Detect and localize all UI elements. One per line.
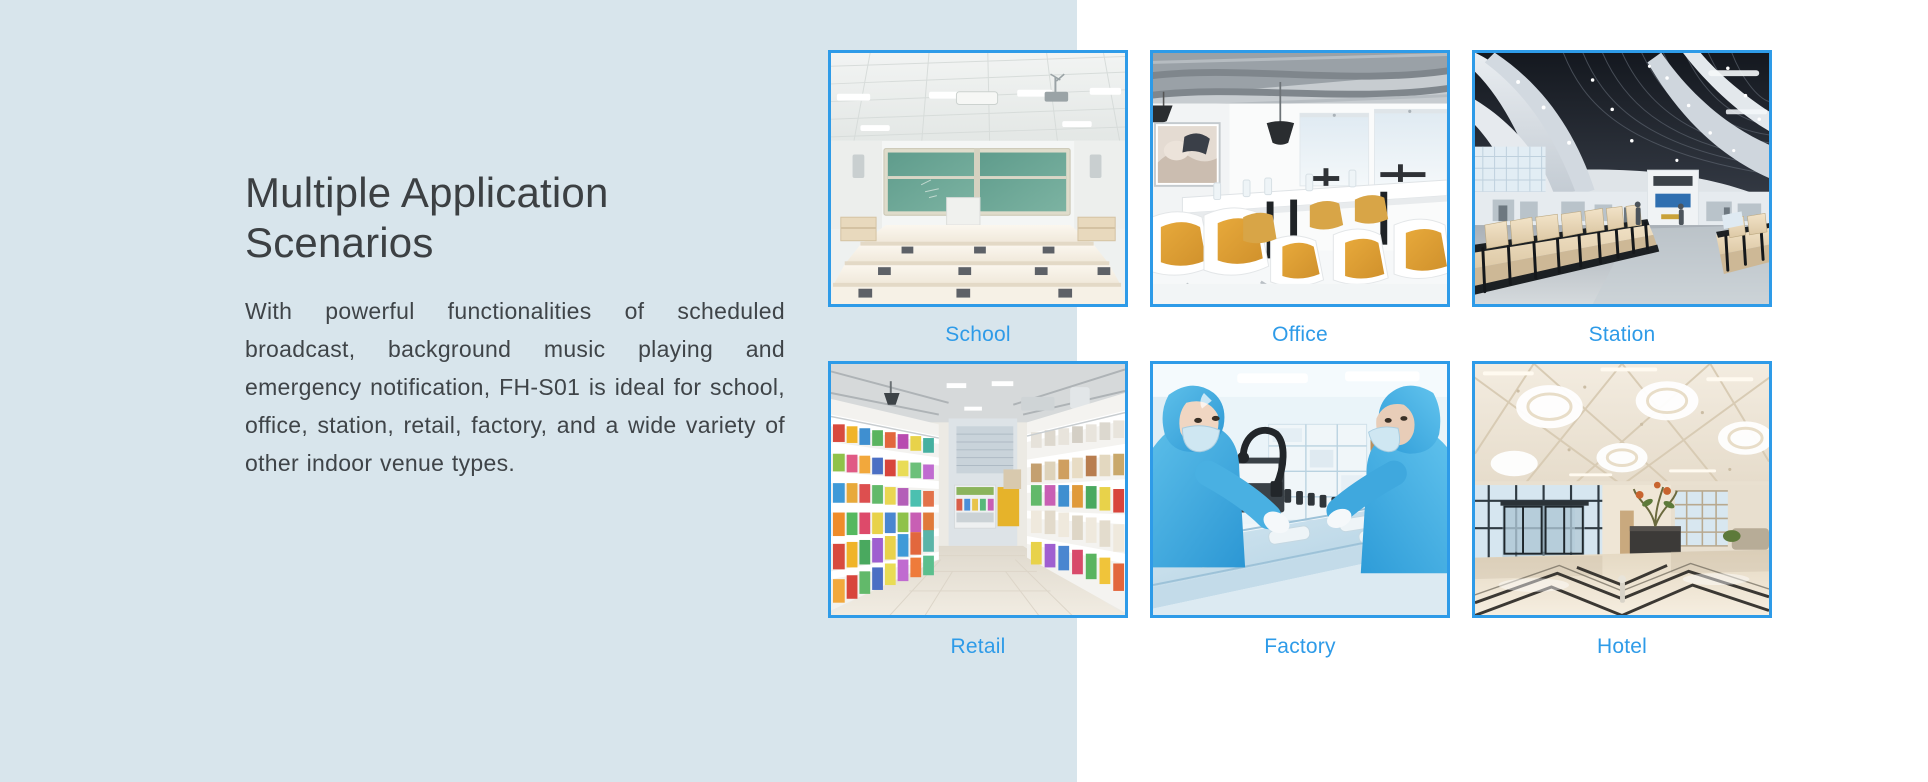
scenario-caption-station: Station <box>1472 323 1772 347</box>
application-scenarios-section: Multiple Application Scenarios With powe… <box>0 0 1928 782</box>
scenario-card-factory[interactable]: Factory <box>1150 361 1450 659</box>
scenario-card-station[interactable]: Station <box>1472 50 1772 347</box>
scenario-grid: School <box>828 50 1838 673</box>
scenario-card-hotel[interactable]: Hotel <box>1472 361 1772 659</box>
scenario-row-1: School <box>828 50 1838 347</box>
airport-terminal-photo <box>1472 50 1772 307</box>
supermarket-aisle-photo <box>828 361 1128 618</box>
scenario-caption-retail: Retail <box>828 635 1128 659</box>
scenario-card-retail[interactable]: Retail <box>828 361 1128 659</box>
scenario-caption-school: School <box>828 323 1128 347</box>
scenario-card-school[interactable]: School <box>828 50 1128 347</box>
scenario-card-office[interactable]: Office <box>1150 50 1450 347</box>
cleanroom-assembly-photo <box>1150 361 1450 618</box>
classroom-photo <box>828 50 1128 307</box>
section-heading: Multiple Application Scenarios <box>245 168 785 268</box>
scenario-row-2: Retail <box>828 361 1838 659</box>
conference-room-photo <box>1150 50 1450 307</box>
scenario-caption-hotel: Hotel <box>1472 635 1772 659</box>
scenario-caption-office: Office <box>1150 323 1450 347</box>
text-column: Multiple Application Scenarios With powe… <box>245 168 785 482</box>
section-description: With powerful functionalities of schedul… <box>245 292 785 482</box>
hotel-lobby-photo <box>1472 361 1772 618</box>
scenario-caption-factory: Factory <box>1150 635 1450 659</box>
